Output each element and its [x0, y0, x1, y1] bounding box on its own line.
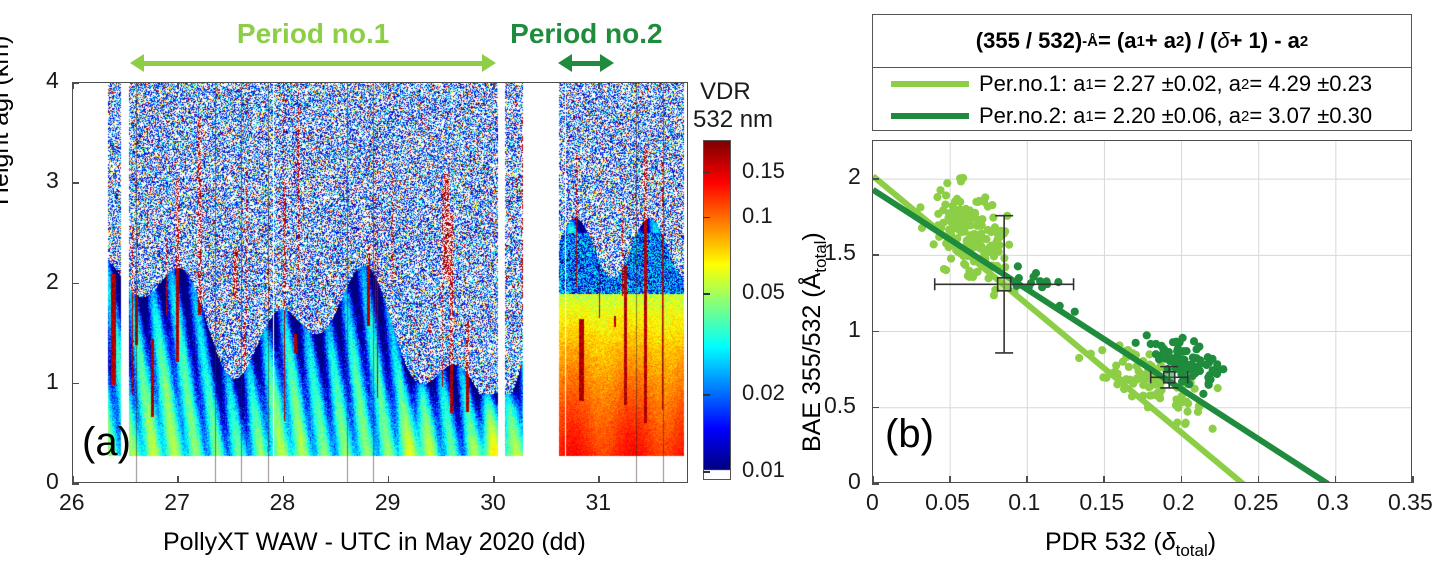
scatter-point-period-1	[957, 177, 965, 185]
scatter-point-period-1	[1099, 373, 1107, 381]
panel-a-xtick-26: 26	[59, 489, 85, 516]
mean-marker-square	[1164, 372, 1175, 383]
scatter-point-period-1	[969, 212, 977, 220]
scatter-point-period-1	[1174, 404, 1182, 412]
panel-b-ytickmark	[872, 178, 879, 180]
scatter-point-period-2	[1199, 390, 1207, 398]
scatter-point-period-1	[1098, 346, 1106, 354]
scatter-point-period-2	[1206, 375, 1214, 383]
colorbar-tick-0.15: 0.15	[742, 158, 785, 184]
scatter-point-period-1	[936, 186, 944, 194]
scatter-point-period-1	[1182, 419, 1190, 427]
colorbar-tickmark	[703, 394, 710, 396]
scatter-point-period-1	[947, 254, 955, 262]
scatter-point-period-1	[959, 214, 967, 222]
scatter-point-period-1	[977, 220, 985, 228]
scatter-point-period-1	[977, 229, 985, 237]
panel-a-xtick-30: 30	[480, 489, 506, 516]
panel-b-xtickmark	[1335, 476, 1337, 483]
panel-b-xtickmark	[1181, 476, 1183, 483]
scatter-point-period-2	[1165, 348, 1173, 356]
scatter-point-period-1	[1126, 376, 1134, 384]
scatter-point-period-2	[1014, 262, 1022, 270]
period-2-title: Period no.2	[386, 18, 786, 50]
panel-b-xtickmark	[949, 476, 951, 483]
scatter-point-period-1	[989, 213, 997, 221]
bae-pdr-scatter	[873, 141, 1412, 483]
scatter-point-period-2	[1172, 338, 1180, 346]
scatter-point-period-2	[1188, 360, 1196, 368]
fit-line-period-2	[873, 190, 1328, 483]
panel-b-xtick-0.35: 0.35	[1388, 489, 1433, 516]
colorbar-tickmark	[703, 471, 710, 473]
panel-b-xtick-0.25: 0.25	[1234, 489, 1279, 516]
panel-a-xtickmark-top	[598, 82, 600, 89]
panel-a-xtickmark	[388, 476, 390, 483]
colorbar-tickmark	[703, 172, 710, 174]
legend-label-1a: Per.no.1: a	[979, 71, 1085, 97]
panel-a-ytickmark	[72, 383, 79, 385]
panel-a-ytick-4: 4	[46, 67, 59, 94]
panel-b-ytickmark	[872, 407, 879, 409]
scatter-point-period-1	[940, 265, 948, 273]
panel-a-ytickmark	[72, 82, 79, 84]
panel-b-xtick-0: 0	[866, 489, 879, 516]
colorbar-tick-0.01: 0.01	[742, 457, 785, 483]
panel-a-plot-area	[72, 82, 688, 483]
panel-b-ytickmark	[872, 483, 879, 485]
panel-b-ytickmark	[872, 331, 879, 333]
legend-row-period-1: Per.no.1: a1 = 2.27 ±0.02, a2 = 4.29 ±0.…	[873, 68, 1411, 100]
panel-a-xtickmark	[283, 476, 285, 483]
panel-b-xtick-0.3: 0.3	[1317, 489, 1349, 516]
panel-b-x-axis-label: PDR 532 (δtotal)	[1045, 528, 1216, 561]
eq-sub-1: 1	[1136, 33, 1144, 50]
scatter-point-period-2	[1032, 269, 1040, 277]
panel-a-tag: (a)	[82, 420, 131, 465]
scatter-point-period-1	[964, 272, 972, 280]
scatter-point-period-2	[1132, 339, 1140, 347]
b-xlabel-sub: total	[1176, 541, 1208, 560]
panel-a-ytickmark	[72, 182, 79, 184]
scatter-point-period-1	[1134, 367, 1142, 375]
colorbar-tick-0.05: 0.05	[742, 279, 785, 305]
panel-b-ytick-0.5: 0.5	[824, 392, 856, 419]
eq-sub-3: 2	[1300, 33, 1308, 50]
scatter-point-period-1	[943, 179, 951, 187]
legend-row-period-2: Per.no.2: a1 = 2.20 ±0.06, a2 = 3.07 ±0.…	[873, 100, 1411, 132]
scatter-point-period-1	[1156, 389, 1164, 397]
legend-sub-1b: 2	[1241, 76, 1249, 93]
panel-b-ytick-1: 1	[848, 316, 861, 343]
panel-a-xtickmark	[72, 476, 74, 483]
scatter-point-period-2	[1071, 308, 1079, 316]
vdr-colorbar	[703, 140, 731, 480]
scatter-point-period-1	[1075, 354, 1083, 362]
scatter-point-period-1	[941, 200, 949, 208]
legend-sub-2a: 1	[1085, 108, 1093, 125]
panel-a-xtickmark-top	[177, 82, 179, 89]
panel-b-xtickmark	[1103, 476, 1105, 483]
panel-b-xtickmark	[1258, 476, 1260, 483]
arrow-head-left	[558, 54, 572, 72]
scatter-point-period-1	[1183, 408, 1191, 416]
mean-marker-square	[998, 278, 1011, 291]
eq-part-1: (355 / 532)	[976, 28, 1082, 54]
colorbar-gradient	[704, 141, 730, 479]
legend-sub-2b: 2	[1241, 108, 1249, 125]
arrow-head-right	[482, 54, 496, 72]
panel-b-xtick-0.1: 0.1	[1008, 489, 1040, 516]
panel-a-xtickmark-top	[283, 82, 285, 89]
scatter-point-period-2	[1152, 350, 1160, 358]
legend-label-1b: = 2.27 ±0.02, a	[1094, 71, 1241, 97]
eq-exponent: -Å	[1082, 33, 1098, 50]
panel-a-ytick-2: 2	[46, 268, 59, 295]
scatter-point-period-2	[1192, 345, 1200, 353]
legend-label-1c: = 4.29 ±0.23	[1249, 71, 1372, 97]
scatter-point-period-2	[1208, 355, 1216, 363]
panel-a-y-axis-label: Height agl (km)	[0, 36, 15, 206]
panel-b-equation: (355 / 532)-Å = (a1 + a2) / (δ + 1) - a2	[873, 15, 1411, 68]
panel-b-ytick-1.5: 1.5	[824, 239, 856, 266]
scatter-point-period-1	[980, 198, 988, 206]
colorbar-title-line1: VDR	[700, 78, 751, 106]
scatter-point-period-2	[1180, 356, 1188, 364]
panel-a-xtickmark-top	[388, 82, 390, 89]
panel-a-ytickmark	[72, 283, 79, 285]
panel-a-xtickmark-top	[493, 82, 495, 89]
scatter-point-period-1	[990, 291, 998, 299]
panel-a-xtick-31: 31	[585, 489, 611, 516]
panel-b-legend-box: (355 / 532)-Å = (a1 + a2) / (δ + 1) - a2…	[872, 14, 1412, 131]
arrow-shaft	[568, 61, 604, 66]
panel-a-xtickmark	[598, 476, 600, 483]
b-ylabel-post: )	[798, 232, 826, 240]
legend-swatch-period-1	[891, 81, 969, 87]
period-1-arrow	[130, 52, 496, 74]
panel-b-xtickmark	[872, 476, 874, 483]
period-2-arrow	[558, 52, 614, 74]
arrow-head-right	[600, 54, 614, 72]
b-xlabel-delta: δ	[1162, 528, 1176, 556]
eq-sub-2: 2	[1176, 33, 1184, 50]
colorbar-tickmark	[703, 293, 710, 295]
scatter-point-period-1	[1209, 425, 1217, 433]
legend-label-2b: = 2.20 ±0.06, a	[1094, 103, 1241, 129]
legend-label-2c: = 3.07 ±0.30	[1249, 103, 1372, 129]
scatter-point-period-1	[1139, 381, 1147, 389]
scatter-point-period-1	[1125, 363, 1133, 371]
panel-b-ytick-0: 0	[848, 468, 861, 495]
scatter-point-period-2	[1152, 340, 1160, 348]
panel-b-plot-area	[872, 140, 1412, 483]
colorbar-tick-0.02: 0.02	[742, 380, 785, 406]
legend-label-2a: Per.no.2: a	[979, 103, 1085, 129]
panel-b-xtick-0.15: 0.15	[1079, 489, 1124, 516]
lidar-quicklook-heatmap	[73, 83, 688, 483]
panel-b-xtick-0.05: 0.05	[925, 489, 970, 516]
scatter-point-period-1	[989, 244, 997, 252]
panel-a-ytick-0: 0	[46, 468, 59, 495]
scatter-point-period-1	[930, 240, 938, 248]
scatter-point-period-1	[1214, 384, 1222, 392]
scatter-point-period-2	[1143, 331, 1151, 339]
eq-part-2: = (a	[1098, 28, 1137, 54]
panel-b-ytick-2: 2	[848, 163, 861, 190]
panel-a-xtick-28: 28	[270, 489, 296, 516]
colorbar-title-line2: 532 nm	[693, 106, 773, 134]
panel-a-ytick-1: 1	[46, 368, 59, 395]
scatter-point-period-1	[961, 223, 969, 231]
colorbar-tick-0.1: 0.1	[742, 203, 773, 229]
panel-b-xtickmark	[1412, 476, 1414, 483]
scatter-point-period-1	[1005, 241, 1013, 249]
scatter-point-period-1	[990, 252, 998, 260]
panel-b-xtickmark	[1026, 476, 1028, 483]
figure-root: Period no.1 Period no.2 (a) Height agl (…	[0, 0, 1441, 565]
arrow-shaft	[140, 61, 486, 66]
panel-b-ytickmark	[872, 254, 879, 256]
panel-a-xtickmark	[177, 476, 179, 483]
b-xlabel-pre: PDR 532 (	[1045, 528, 1162, 556]
scatter-point-period-2	[1027, 279, 1035, 287]
scatter-point-period-2	[1171, 360, 1179, 368]
legend-sub-1a: 1	[1085, 76, 1093, 93]
colorbar-tickmark	[703, 217, 710, 219]
eq-part-5: + 1) - a	[1230, 28, 1300, 54]
panel-a-xtick-27: 27	[164, 489, 190, 516]
arrow-head-left	[130, 54, 144, 72]
scatter-point-period-1	[1112, 361, 1120, 369]
scatter-point-period-1	[954, 206, 962, 214]
scatter-point-period-1	[934, 210, 942, 218]
scatter-point-period-1	[988, 201, 996, 209]
scatter-point-period-2	[1213, 370, 1221, 378]
scatter-point-period-1	[1184, 399, 1192, 407]
legend-swatch-period-2	[891, 113, 969, 119]
panel-a-x-axis-label: PollyXT WAW - UTC in May 2020 (dd)	[163, 528, 586, 557]
panel-a-ytickmark	[72, 483, 79, 485]
scatter-point-period-1	[951, 220, 959, 228]
eq-delta: δ	[1217, 28, 1229, 54]
eq-part-4: ) / (	[1184, 28, 1217, 54]
panel-b-xtick-0.2: 0.2	[1163, 489, 1195, 516]
b-ylabel-pre: BAE 355/532 (Å	[798, 273, 826, 452]
panel-a-xtick-29: 29	[375, 489, 401, 516]
eq-part-3: + a	[1145, 28, 1176, 54]
scatter-point-period-1	[961, 261, 969, 269]
scatter-point-period-2	[1179, 347, 1187, 355]
panel-b-tag: (b)	[885, 412, 934, 457]
scatter-point-period-1	[994, 230, 1002, 238]
b-xlabel-post: )	[1208, 528, 1216, 556]
scatter-point-period-2	[1197, 359, 1205, 367]
panel-a-xtickmark	[493, 476, 495, 483]
panel-a-ytick-3: 3	[46, 167, 59, 194]
